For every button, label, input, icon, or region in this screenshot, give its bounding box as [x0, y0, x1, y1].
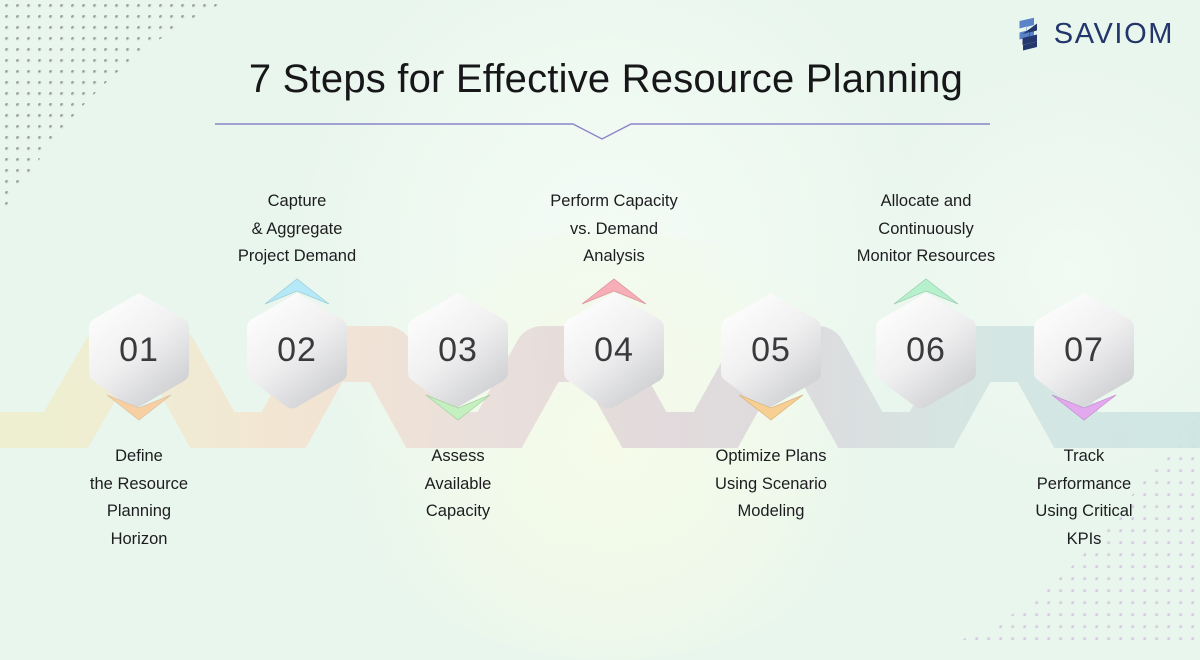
chevron-down-icon-07 — [1050, 392, 1118, 424]
label-line: Performance — [984, 471, 1184, 499]
label-line: Capture — [197, 188, 397, 216]
chevron-up-icon-06 — [892, 275, 960, 307]
chevron-down-icon-01 — [105, 392, 173, 424]
step-hexagon-04[interactable]: 04 — [560, 290, 668, 410]
label-line: Planning — [39, 498, 239, 526]
label-line: Track — [984, 443, 1184, 471]
label-line: Project Demand — [197, 243, 397, 271]
label-line: & Aggregate — [197, 216, 397, 244]
label-line: Allocate and — [826, 188, 1026, 216]
chevron-up-icon-02 — [263, 275, 331, 307]
step-number: 02 — [243, 290, 351, 410]
step-number: 04 — [560, 290, 668, 410]
label-line: Perform Capacity — [514, 188, 714, 216]
label-line: Optimize Plans — [671, 443, 871, 471]
label-line: the Resource — [39, 471, 239, 499]
label-line: KPIs — [984, 526, 1184, 554]
label-line: Monitor Resources — [826, 243, 1026, 271]
label-line: Using Scenario — [671, 471, 871, 499]
chevron-down-icon-05 — [737, 392, 805, 424]
step-label-07: Track Performance Using Critical KPIs — [984, 443, 1184, 553]
step-label-03: Assess Available Capacity — [358, 443, 558, 526]
step-label-06: Allocate and Continuously Monitor Resour… — [826, 188, 1026, 271]
step-number: 06 — [872, 290, 980, 410]
step-label-01: Define the Resource Planning Horizon — [39, 443, 239, 553]
step-label-02: Capture & Aggregate Project Demand — [197, 188, 397, 271]
label-line: Horizon — [39, 526, 239, 554]
label-line: Available — [358, 471, 558, 499]
step-hexagon-06[interactable]: 06 — [872, 290, 980, 410]
chevron-down-icon-03 — [424, 392, 492, 424]
label-line: vs. Demand — [514, 216, 714, 244]
label-line: Modeling — [671, 498, 871, 526]
label-line: Assess — [358, 443, 558, 471]
label-line: Analysis — [514, 243, 714, 271]
label-line: Define — [39, 443, 239, 471]
step-hexagon-02[interactable]: 02 — [243, 290, 351, 410]
label-line: Capacity — [358, 498, 558, 526]
label-line: Continuously — [826, 216, 1026, 244]
step-label-05: Optimize Plans Using Scenario Modeling — [671, 443, 871, 526]
label-line: Using Critical — [984, 498, 1184, 526]
chevron-up-icon-04 — [580, 275, 648, 307]
step-label-04: Perform Capacity vs. Demand Analysis — [514, 188, 714, 271]
steps-container: 01 Define the Resource Planning Horizon — [0, 0, 1200, 628]
